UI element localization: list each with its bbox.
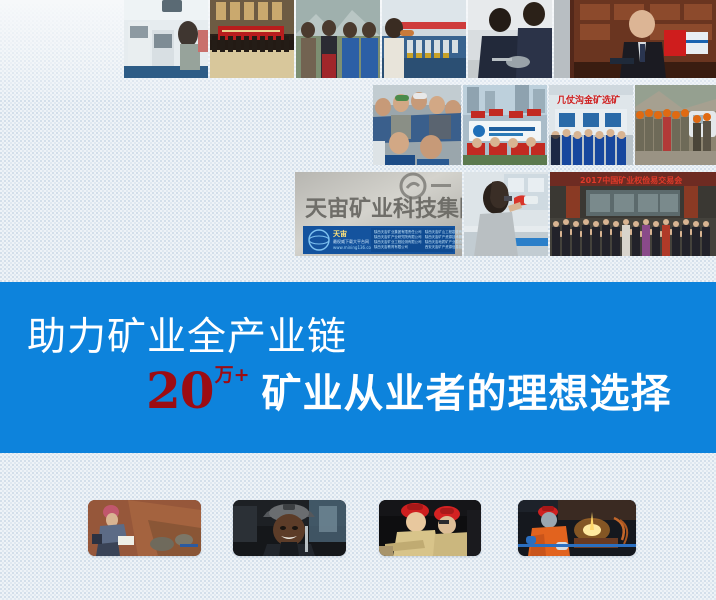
banner-tagline: 矿业从业者的理想选择 <box>262 372 672 416</box>
tile-art <box>464 172 548 256</box>
strip-photo-two-workers-red-helmets-underground <box>379 500 481 556</box>
tile-art <box>296 0 380 78</box>
collage-tile-worker-at-sample-bottle-line <box>382 0 466 78</box>
collage-tile-lab-technician-at-instruments <box>124 0 208 78</box>
banner-headline-line2: 20 万+ 矿业从业者的理想选择 <box>146 364 672 416</box>
tile-art <box>210 0 294 78</box>
strip-photo-smelter-worker-at-furnace <box>518 500 636 556</box>
tile-art: 天宙矿业科技集团 天宙 最权威下载大平台网 www.mining136.com … <box>295 172 462 256</box>
collage-tile-technician-pouring-sample <box>464 172 548 256</box>
banner-number: 20 <box>146 366 214 416</box>
tile-image <box>635 85 716 165</box>
tile-art <box>373 85 461 165</box>
tile-image: 几仗沟金矿选矿 <box>549 85 633 165</box>
svg-text:陕西天宙矿业工程检测有限公司 陕西天宙地质矿产业勘查有限责任: 陕西天宙矿业工程检测有限公司 陕西天宙地质矿产业勘查有限责任公司 <box>374 239 462 244</box>
photo-image <box>88 500 201 556</box>
photo-collage: 几仗沟金矿选矿 <box>0 0 716 262</box>
tile-image <box>463 85 547 165</box>
photo-art <box>379 500 481 556</box>
svg-text:最权威下载大平台网: 最权威下载大平台网 <box>333 238 369 244</box>
strip-photo-geologist-taking-notes-on-outcrop <box>88 500 201 556</box>
svg-text:天宙矿业科技集团: 天宙矿业科技集团 <box>305 196 462 222</box>
tile-image <box>373 85 461 165</box>
tile-image <box>124 0 208 78</box>
tile-image: 2017中国矿业权俭易交易会 <box>550 172 716 256</box>
svg-text:天宙: 天宙 <box>333 229 347 238</box>
tile-art: 几仗沟金矿选矿 <box>549 85 633 165</box>
photo-art <box>88 500 201 556</box>
tile-image <box>210 0 294 78</box>
photo-art <box>518 500 636 556</box>
tile-art <box>124 0 208 78</box>
collage-tile-workers-with-orange-helmets-by-van <box>635 85 716 165</box>
svg-text:陕西天宙矿产业研究院有限公司 陕西天宙矿产资源技术服务有限公: 陕西天宙矿产业研究院有限公司 陕西天宙矿产资源技术服务有限公司 <box>374 234 462 239</box>
tile-art <box>635 85 716 165</box>
photo-image <box>379 500 481 556</box>
tile-image <box>464 172 548 256</box>
banner-headline-line1: 助力矿业全产业链 <box>27 314 347 362</box>
tile-image <box>296 0 380 78</box>
svg-text:2017中国矿业权俭易交易会: 2017中国矿业权俭易交易会 <box>580 175 682 185</box>
svg-text:陕西天宙教育有限公司 西安天宙矿产资源信息技术有限公: 陕西天宙教育有限公司 西安天宙矿产资源信息技术有限公司 <box>374 244 462 249</box>
tile-art <box>382 0 466 78</box>
collage-tile-executive-at-desk-with-flag <box>554 0 716 78</box>
collage-tile-banner-ceremony-outdoors <box>463 85 547 165</box>
banner-number-unit: 万+ <box>215 366 250 385</box>
svg-text:陕西天宙矿业集团有限责任公司 陕西天宙矿山工程勘查有限公司: 陕西天宙矿业集团有限责任公司 陕西天宙矿山工程勘查有限公司 <box>374 229 462 234</box>
photo-image <box>518 500 636 556</box>
photo-image <box>233 500 346 556</box>
strip-photo-smiling-miner-with-helmet <box>233 500 346 556</box>
collage-tile-company-signboard-wall: 天宙矿业科技集团 天宙 最权威下载大平台网 www.mining136.com … <box>295 172 462 256</box>
tile-art <box>554 0 716 78</box>
collage-tile-miners-group-on-mountain <box>296 0 380 78</box>
tile-art <box>468 0 552 78</box>
svg-text:几仗沟金矿选矿: 几仗沟金矿选矿 <box>557 94 620 106</box>
collage-tile-conference-hall-group-ceremony <box>210 0 294 78</box>
photo-art <box>233 500 346 556</box>
collage-tile-large-conference-group-photo: 2017中国矿业权俭易交易会 <box>550 172 716 256</box>
svg-text:www.mining136.com: www.mining136.com <box>333 245 375 250</box>
tile-image <box>468 0 552 78</box>
tile-image <box>554 0 716 78</box>
tile-art <box>463 85 547 165</box>
promo-banner-page: 几仗沟金矿选矿 <box>0 0 716 600</box>
collage-tile-field-crew-group-photo <box>373 85 461 165</box>
tile-image <box>382 0 466 78</box>
collage-tile-blue-uniform-team-in-front-of-building: 几仗沟金矿选矿 <box>549 85 633 165</box>
tile-image: 天宙矿业科技集团 天宙 最权威下载大平台网 www.mining136.com … <box>295 172 462 256</box>
tile-art: 2017中国矿业权俭易交易会 <box>550 172 716 256</box>
collage-tile-two-technicians-with-equipment <box>468 0 552 78</box>
